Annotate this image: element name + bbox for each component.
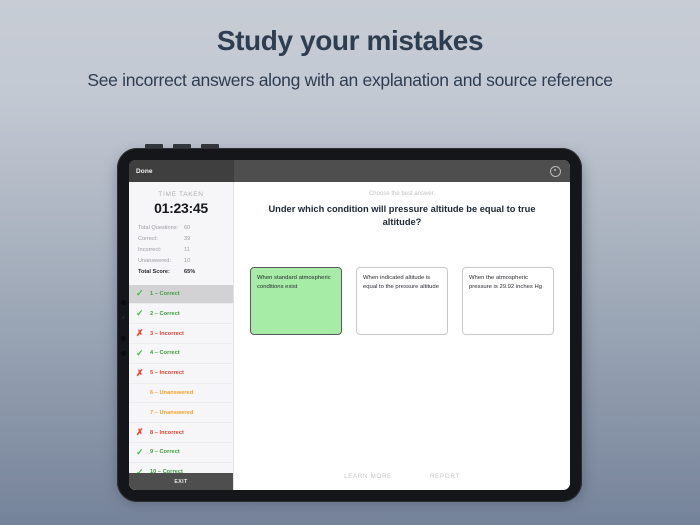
question-result-row[interactable]: 7 – Unanswered — [129, 403, 233, 423]
cross-icon: ✗ — [136, 428, 150, 437]
question-result-row[interactable]: ✗5 – Incorrect — [129, 364, 233, 384]
exit-button[interactable]: EXIT — [129, 473, 233, 490]
stat-row-unanswered: Unanswered: 10 — [138, 256, 224, 267]
cross-icon: ✗ — [136, 329, 150, 338]
question-result-row[interactable]: ✓1 – Correct — [129, 285, 233, 305]
camera-dot-icon — [121, 351, 126, 356]
question-result-row[interactable]: ✓10 – Correct — [129, 463, 233, 473]
topbar-left-section: Done — [129, 160, 234, 182]
cross-icon: ✗ — [136, 369, 150, 378]
stat-value: 11 — [184, 245, 224, 256]
stats-list: Total Questions: 60 Correct: 39 Incorrec… — [138, 223, 224, 278]
stat-value: 10 — [184, 256, 224, 267]
app-body: TIME TAKEN 01:23:45 Total Questions: 60 … — [129, 182, 570, 490]
choose-best-answer-hint: Choose the best answer. — [234, 182, 570, 197]
report-button[interactable]: REPORT — [430, 473, 460, 480]
question-result-label: 7 – Unanswered — [150, 410, 193, 416]
question-detail-panel: Choose the best answer. Under which cond… — [234, 182, 570, 490]
detail-footer: LEARN MORE REPORT — [234, 473, 570, 480]
question-text: Under which condition will pressure alti… — [234, 197, 570, 228]
stat-row-incorrect: Incorrect: 11 — [138, 245, 224, 256]
stat-row-total-score: Total Score: 65% — [138, 267, 224, 278]
stat-value: 39 — [184, 234, 224, 245]
question-result-label: 4 – Correct — [150, 350, 180, 356]
tablet-top-edge-buttons — [145, 144, 219, 148]
question-result-row[interactable]: ✗3 – Incorrect — [129, 324, 233, 344]
tablet-device-frame: Done TIME TAKEN 01:23:45 Total Questions… — [117, 148, 582, 502]
question-result-row[interactable]: ✓4 – Correct — [129, 344, 233, 364]
stat-key: Incorrect: — [138, 245, 184, 256]
stat-key: Total Questions: — [138, 223, 184, 234]
summary-panel: TIME TAKEN 01:23:45 Total Questions: 60 … — [129, 182, 233, 285]
time-taken-value: 01:23:45 — [138, 200, 224, 216]
done-button[interactable]: Done — [136, 168, 153, 175]
promo-subtitle: See incorrect answers along with an expl… — [0, 71, 700, 90]
promo-title: Study your mistakes — [0, 26, 700, 57]
check-icon: ✓ — [136, 349, 150, 358]
answer-option[interactable]: When standard atmospheric conditions exi… — [250, 267, 342, 335]
camera-dot-icon — [121, 300, 126, 305]
answer-options: When standard atmospheric conditions exi… — [234, 267, 570, 335]
stat-key: Correct: — [138, 234, 184, 245]
tablet-screen: Done TIME TAKEN 01:23:45 Total Questions… — [129, 160, 570, 490]
question-result-label: 1 – Correct — [150, 291, 180, 297]
stat-key: Unanswered: — [138, 256, 184, 267]
check-icon: ✓ — [136, 289, 150, 298]
question-result-row[interactable]: ✓9 – Correct — [129, 443, 233, 463]
topbar-right-section — [234, 160, 570, 182]
time-taken-label: TIME TAKEN — [138, 191, 224, 198]
question-result-label: 5 – Incorrect — [150, 370, 184, 376]
stat-value: 65% — [184, 267, 224, 278]
edge-notch — [145, 144, 163, 148]
question-result-list: ✓1 – Correct✓2 – Correct✗3 – Incorrect✓4… — [129, 285, 233, 473]
gear-icon[interactable] — [550, 166, 561, 177]
question-result-label: 6 – Unanswered — [150, 390, 193, 396]
answer-option[interactable]: When indicated altitude is equal to the … — [356, 267, 448, 335]
question-result-row[interactable]: ✓2 – Correct — [129, 304, 233, 324]
edge-notch — [173, 144, 191, 148]
stat-key: Total Score: — [138, 267, 184, 278]
question-result-row[interactable]: ✗8 – Incorrect — [129, 423, 233, 443]
learn-more-button[interactable]: LEARN MORE — [344, 473, 392, 480]
results-sidebar: TIME TAKEN 01:23:45 Total Questions: 60 … — [129, 182, 234, 490]
stat-value: 60 — [184, 223, 224, 234]
check-icon: ✓ — [136, 448, 150, 457]
question-result-label: 9 – Correct — [150, 449, 180, 455]
camera-dot-icon — [121, 336, 126, 341]
stat-row-correct: Correct: 39 — [138, 234, 224, 245]
question-result-label: 8 – Incorrect — [150, 430, 184, 436]
edge-notch — [201, 144, 219, 148]
promo-header: Study your mistakes See incorrect answer… — [0, 0, 700, 90]
sensor-dot-icon — [122, 316, 125, 319]
question-result-row[interactable]: 6 – Unanswered — [129, 384, 233, 404]
app-topbar: Done — [129, 160, 570, 182]
question-result-label: 3 – Incorrect — [150, 331, 184, 337]
check-icon: ✓ — [136, 309, 150, 318]
question-result-label: 2 – Correct — [150, 311, 180, 317]
stat-row-total-questions: Total Questions: 60 — [138, 223, 224, 234]
answer-option[interactable]: When the atmospheric pressure is 29.92 i… — [462, 267, 554, 335]
